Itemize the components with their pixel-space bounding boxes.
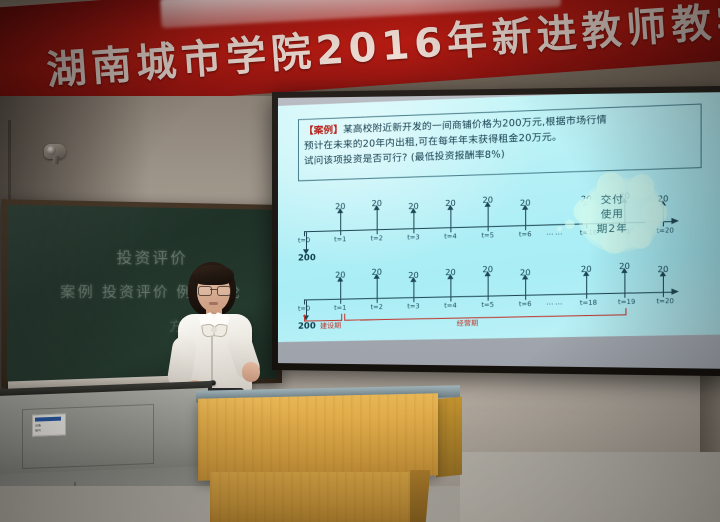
timeline-inflow-amount: 20 <box>482 195 493 205</box>
glasses-icon <box>198 286 229 294</box>
podium-grain <box>210 472 410 522</box>
timeline-tick-label: t=6 <box>519 300 532 308</box>
bracket-construction-label: 建设期 <box>320 321 341 331</box>
timeline-tick-label: t=4 <box>444 232 457 240</box>
timeline-inflow-amount: 20 <box>520 268 531 277</box>
timeline-inflow-arrow <box>525 209 526 225</box>
podium-grain <box>198 393 438 480</box>
hand-right <box>242 362 260 382</box>
timeline-inflow-arrow <box>450 209 451 227</box>
timeline-inflow-arrow <box>413 212 414 228</box>
timeline-inflow-amount: 20 <box>335 202 345 211</box>
bubble-dot-mid <box>565 220 574 230</box>
podium-base <box>210 472 410 522</box>
timeline-tick-label: t=5 <box>481 231 494 240</box>
podium-front <box>198 393 438 480</box>
glasses-lens-left <box>198 286 212 296</box>
floor-right <box>460 452 720 522</box>
screen-surface: 【案例】某高校附近新开发的一间商铺价格为200万元,根据市场行情 预计在未来的2… <box>278 92 720 369</box>
bracket-operation <box>344 308 626 321</box>
timeline-tick-label: t=6 <box>519 230 532 239</box>
podium-side <box>436 397 462 478</box>
timeline-inflow-amount: 20 <box>408 271 418 280</box>
cabinet-label-line-1: 设备 <box>35 423 41 427</box>
camera-lens <box>47 146 56 155</box>
timeline-inflow-arrow <box>413 281 414 297</box>
timeline-tick-label: t=3 <box>407 302 419 310</box>
wall-camera-icon <box>44 140 70 162</box>
timeline-inflow-arrow <box>488 275 489 295</box>
timeline-inflow-amount: 20 <box>520 198 531 208</box>
timeline-tick-label: t=2 <box>371 234 383 242</box>
bracket-operation-label: 经营期 <box>457 318 479 329</box>
timeline-tick-label: t=2 <box>371 303 383 311</box>
timeline-tick-label: t=5 <box>481 301 494 309</box>
timeline-inflow-amount: 20 <box>445 268 456 277</box>
timeline-inflow-amount: 20 <box>372 199 382 208</box>
timeline-tick-label: t=1 <box>334 235 346 243</box>
timeline-2-outflow-amount: 200 <box>298 321 316 331</box>
timeline-inflow-amount: 20 <box>482 265 493 274</box>
timeline-ellipsis: …… <box>546 298 564 307</box>
cabinet-label-line-2: 编号 <box>35 428 41 432</box>
timeline-inflow-amount: 20 <box>335 270 345 279</box>
timeline-inflow-arrow <box>340 281 341 299</box>
podium-grain <box>436 397 462 478</box>
timeline-inflow-amount: 20 <box>372 268 382 277</box>
timeline-inflow-amount: 20 <box>445 199 456 208</box>
timeline-tick-label: t=3 <box>407 233 419 241</box>
projected-slide: 【案例】某高校附近新开发的一间商铺价格为200万元,根据市场行情 预计在未来的2… <box>278 92 720 342</box>
timeline-inflow-amount: 20 <box>408 202 418 211</box>
classroom-photo: 湖南城市学院2016年新进教师教学比 投资评价 案例 投资评价 例题讨论 方法 <box>0 0 720 522</box>
timeline-tick-label: t=4 <box>444 301 457 309</box>
glasses-bridge <box>210 289 217 290</box>
timeline-tick-label: t=0 <box>298 236 310 244</box>
timeline-inflow-arrow <box>377 278 378 298</box>
timeline-tick-label: t=1 <box>334 304 346 312</box>
bow-tie <box>202 324 226 335</box>
cabinet-label: 设备 编号 <box>32 413 66 436</box>
timeline-inflow-arrow <box>450 278 451 296</box>
timeline-inflow-arrow <box>488 206 489 226</box>
projection-falloff <box>588 92 720 337</box>
case-tag: 【案例】 <box>304 124 343 137</box>
cabinet-label-bar <box>35 417 61 422</box>
timeline-inflow-arrow <box>377 209 378 229</box>
bow-knot <box>211 327 217 333</box>
hair-fringe <box>192 265 234 285</box>
glasses-lens-right <box>217 286 231 296</box>
timeline-tick-label: t=0 <box>298 304 310 312</box>
mouth <box>209 302 218 305</box>
timeline-inflow-arrow <box>340 212 341 230</box>
timeline-1-outflow-amount: 200 <box>298 253 316 263</box>
projection-screen: 【案例】某高校附近新开发的一间商铺价格为200万元,根据市场行情 预计在未来的2… <box>272 86 720 376</box>
timeline-inflow-arrow <box>525 278 526 294</box>
